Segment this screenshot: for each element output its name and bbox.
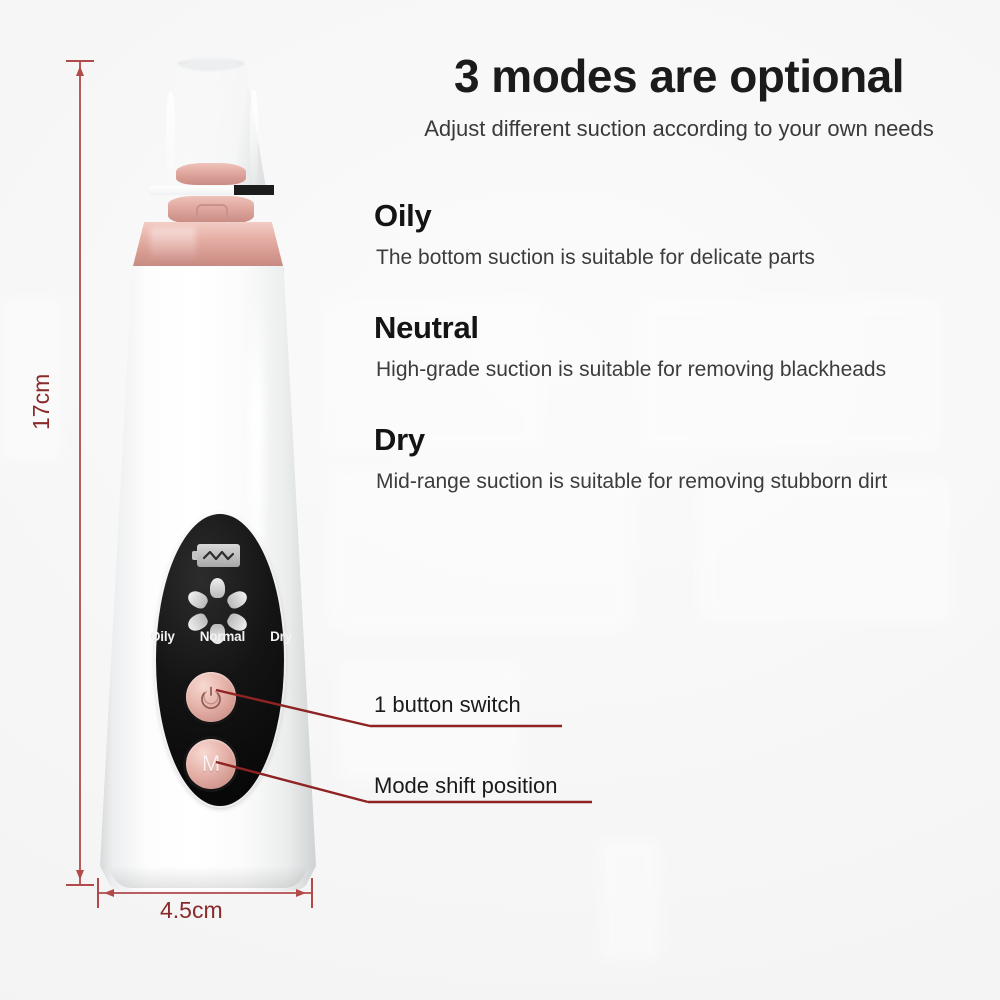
mode-title-oily: Oily (374, 198, 984, 234)
height-dimension-line (66, 60, 94, 886)
callout-leader-2 (216, 762, 368, 802)
mode-block-oily: Oily The bottom suction is suitable for … (374, 198, 984, 270)
mode-desc-dry: Mid-range suction is suitable for removi… (376, 470, 984, 494)
callout-label-mode: Mode shift position (374, 773, 557, 799)
callout-label-power: 1 button switch (374, 692, 521, 718)
page-subtitle: Adjust different suction according to yo… (374, 116, 984, 142)
mode-desc-oily: The bottom suction is suitable for delic… (376, 246, 984, 270)
width-dimension-label: 4.5cm (160, 897, 223, 924)
mode-title-neutral: Neutral (374, 310, 984, 346)
product-infographic: Oily Normal Dry M (0, 0, 1000, 1000)
mode-block-neutral: Neutral High-grade suction is suitable f… (374, 310, 984, 382)
callout-leader-1 (216, 690, 370, 726)
mode-desc-neutral: High-grade suction is suitable for remov… (376, 358, 984, 382)
page-title: 3 modes are optional (374, 52, 984, 100)
mode-block-dry: Dry Mid-range suction is suitable for re… (374, 422, 984, 494)
text-column: 3 modes are optional Adjust different su… (374, 52, 984, 494)
height-dimension-label: 17cm (28, 374, 55, 430)
mode-title-dry: Dry (374, 422, 984, 458)
